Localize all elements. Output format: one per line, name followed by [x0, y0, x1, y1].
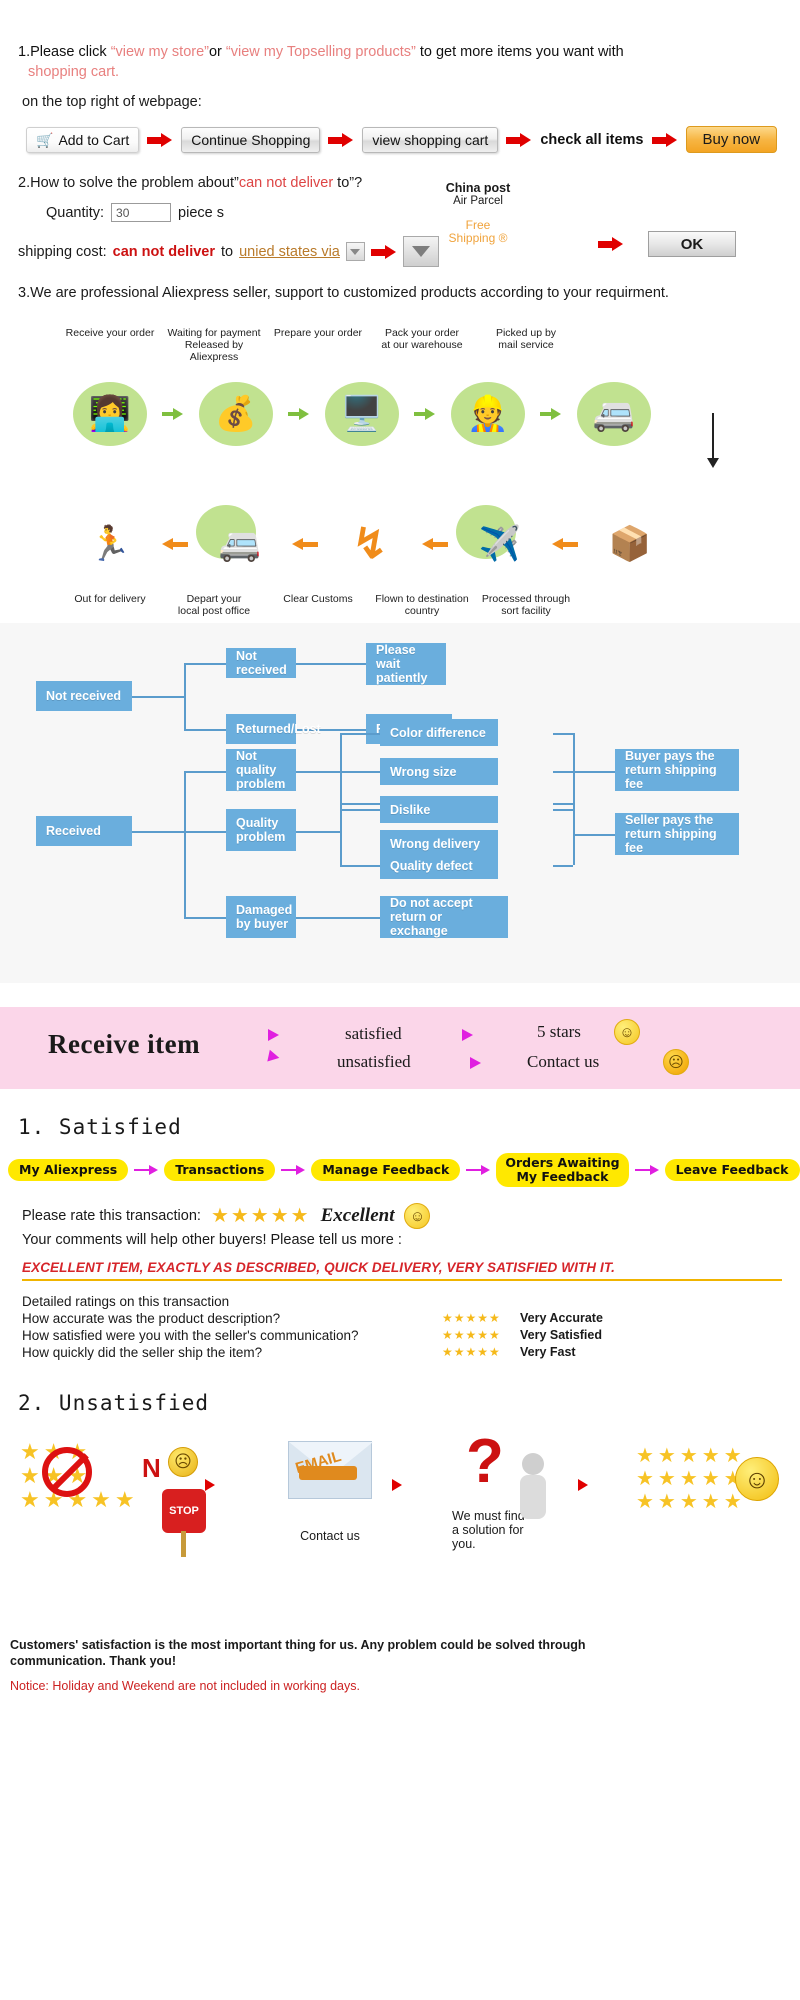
flow-box-color-difference: Color difference	[380, 719, 498, 746]
arrow-right-icon	[267, 1050, 320, 1073]
footer-notice: Notice: Holiday and Weekend are not incl…	[10, 1679, 800, 1693]
arrow-right-icon	[414, 408, 436, 420]
process-top-labels: Receive your order Waiting for payment R…	[0, 327, 800, 363]
add-to-cart-button[interactable]: 🛒 Add to Cart	[26, 127, 139, 153]
satisfied-label: satisfied	[345, 1024, 402, 1044]
flow-box-seller-pays: Seller pays the return shipping fee	[615, 813, 739, 855]
section-1-tail: to get more items you want with	[416, 44, 624, 60]
arrow-left-icon	[162, 538, 188, 551]
solution-icon-group: ? We must find a solution for you.	[452, 1431, 572, 1551]
arrow-right-icon	[162, 408, 184, 420]
air-parcel-label: Air Parcel	[418, 195, 538, 207]
free-shipping-label: Free Shipping ®	[418, 219, 538, 245]
contact-us-caption: Contact us	[275, 1529, 385, 1543]
detail-question: How accurate was the product description…	[22, 1310, 442, 1327]
arrow-right-icon	[635, 1165, 659, 1176]
flow-box-not-received-root: Not received	[36, 681, 132, 711]
flow-box-not-received: Not received	[226, 648, 296, 678]
arrow-right-icon	[205, 1479, 265, 1491]
quantity-input[interactable]: 30	[111, 203, 171, 222]
detail-question: How satisfied were you with the seller's…	[22, 1327, 442, 1344]
receive-order-icon: 👩‍💻	[58, 371, 162, 457]
checkout-button-flow: 🛒 Add to Cart Continue Shopping view sho…	[18, 126, 800, 153]
rating-stars[interactable]: ★★★★★	[211, 1206, 311, 1226]
cart-icon: 🛒	[36, 133, 53, 147]
section-2-heading-a: 2.How to solve the problem about”	[18, 175, 239, 191]
process-label: Picked up by mail service	[474, 327, 578, 363]
detail-question: How quickly did the seller ship the item…	[22, 1344, 442, 1361]
step-leave-feedback[interactable]: Leave Feedback	[665, 1159, 800, 1181]
arrow-right-icon	[328, 133, 354, 147]
detail-stars[interactable]: ★★★★★	[442, 1310, 520, 1327]
process-label: Prepare your order	[266, 327, 370, 363]
five-star-group: ★★★★★ ★★★★★ ★★★★★	[636, 1443, 746, 1514]
top-right-hint: on the top right of webpage:	[18, 94, 800, 110]
divider	[22, 1279, 782, 1281]
comments-label: Your comments will help other buyers! Pl…	[22, 1232, 800, 1248]
shipping-cannot-deliver: can not deliver	[113, 244, 215, 260]
footer-note: Customers' satisfaction is the most impo…	[10, 1637, 650, 1669]
section-3-text: 3.We are professional Aliexpress seller,…	[0, 285, 800, 301]
view-my-store-link[interactable]: “view my store”	[111, 44, 209, 60]
process-label: Processed through sort facility	[474, 593, 578, 617]
destination-link[interactable]: unied states via	[239, 244, 340, 260]
unsatisfied-flow: ★★★ ★★★ ★★★★★ N ☹ STOP EMAIL Contact us …	[0, 1421, 800, 1631]
picked-up-icon: 🚐	[562, 371, 666, 457]
arrow-right-icon	[540, 408, 562, 420]
ok-button[interactable]: OK	[648, 231, 736, 257]
process-label: Depart your local post office	[162, 593, 266, 617]
prepare-order-icon: 🖥️	[310, 371, 414, 457]
happy-face-icon: ☺	[404, 1203, 430, 1229]
cannot-deliver-phrase: can not deliver	[239, 175, 333, 191]
section-1-lead: Please click	[30, 44, 111, 60]
arrow-right-icon	[506, 133, 532, 147]
section-1-number: 1.	[18, 44, 30, 60]
depart-post-office-icon: 🚐	[188, 501, 292, 587]
process-label: Receive your order	[58, 327, 162, 363]
process-bottom-icons: 🏃 🚐 ↯ ✈️ 📦	[0, 501, 800, 587]
step-my-aliexpress[interactable]: My Aliexpress	[8, 1159, 128, 1181]
shopping-cart-text: shopping cart.	[18, 64, 800, 80]
check-all-items-text: check all items	[540, 132, 643, 148]
arrow-right-icon	[652, 133, 678, 147]
stop-sign-icon: STOP	[162, 1489, 206, 1533]
process-label: Clear Customs	[266, 593, 370, 617]
piece-label: piece s	[178, 205, 224, 221]
section-1: 1.Please click “view my store”or “view m…	[0, 0, 800, 153]
detail-stars[interactable]: ★★★★★	[442, 1344, 520, 1361]
ok-label: OK	[681, 236, 704, 253]
feedback-text[interactable]: EXCELLENT ITEM, EXACTLY AS DESCRIBED, QU…	[22, 1260, 800, 1275]
happy-face-icon: ☺	[614, 1019, 640, 1045]
buy-now-button[interactable]: Buy now	[686, 126, 778, 153]
process-top-icons: 👩‍💻 💰 🖥️ 👷 🚐	[0, 371, 800, 457]
flow-box-dislike: Dislike	[380, 796, 498, 823]
process-label: Flown to destination country	[370, 593, 474, 617]
section-1-mid: or	[209, 44, 226, 60]
detail-label: Very Satisfied	[520, 1327, 602, 1344]
flow-box-received-root: Received	[36, 816, 132, 846]
flow-box-quality-defect: Quality defect	[380, 852, 498, 879]
flow-box-no-return: Do not accept return or exchange	[380, 896, 508, 938]
detail-stars[interactable]: ★★★★★	[442, 1327, 520, 1344]
waiting-payment-icon: 💰	[184, 371, 288, 457]
process-label: Out for delivery	[58, 593, 162, 617]
flown-destination-icon: ✈️	[448, 501, 552, 587]
excellent-label: Excellent	[321, 1205, 395, 1227]
person-body	[520, 1475, 546, 1519]
arrow-right-icon	[392, 1479, 450, 1491]
arrow-right-icon	[134, 1165, 158, 1176]
solution-caption: We must find a solution for you.	[452, 1509, 572, 1551]
view-shopping-cart-button[interactable]: view shopping cart	[362, 127, 498, 153]
receive-item-title: Receive item	[48, 1029, 200, 1060]
crying-face-icon: ☹	[168, 1447, 198, 1477]
free-line-2: Shipping	[449, 231, 496, 245]
detail-title: Detailed ratings on this transaction	[22, 1293, 800, 1310]
arrow-right-icon	[578, 1479, 628, 1491]
continue-shopping-label: Continue Shopping	[191, 132, 310, 148]
china-post-block: China post Air Parcel Free Shipping ®	[418, 181, 538, 245]
buy-now-label: Buy now	[703, 131, 761, 148]
chevron-down-icon	[350, 249, 360, 255]
flow-box-wrong-size: Wrong size	[380, 758, 498, 785]
stop-sign-pole	[181, 1531, 186, 1557]
detail-row: How satisfied were you with the seller's…	[22, 1327, 800, 1344]
return-policy-flowchart: Not received Not received Returned/Lost …	[0, 623, 800, 983]
arrow-right-icon	[147, 133, 173, 147]
detailed-ratings: Detailed ratings on this transaction How…	[22, 1293, 800, 1361]
flow-box-buyer-pays: Buyer pays the return shipping fee	[615, 749, 739, 791]
continue-shopping-button[interactable]: Continue Shopping	[181, 127, 320, 153]
arrow-left-icon	[292, 538, 318, 551]
out-for-delivery-icon: 🏃	[58, 501, 162, 587]
feedback-steps: My Aliexpress Transactions Manage Feedba…	[8, 1153, 800, 1187]
detail-row: How accurate was the product description…	[22, 1310, 800, 1327]
china-post-title: China post	[418, 181, 538, 195]
order-process-flow: Receive your order Waiting for payment R…	[0, 327, 800, 617]
view-cart-label: view shopping cart	[372, 132, 488, 148]
arrow-right-icon	[598, 237, 624, 251]
flow-box-please-wait: Please wait patiently	[366, 643, 446, 685]
section-1-line-1: 1.Please click “view my store”or “view m…	[18, 42, 800, 62]
sad-face-icon: ☹	[663, 1049, 689, 1075]
person-head	[522, 1453, 544, 1475]
step-transactions[interactable]: Transactions	[164, 1159, 275, 1181]
flow-box-damaged-by-buyer: Damaged by buyer	[226, 896, 296, 938]
step-manage-feedback[interactable]: Manage Feedback	[311, 1159, 460, 1181]
quantity-label: Quantity:	[46, 205, 104, 221]
question-mark-icon: ?	[452, 1431, 572, 1493]
no-letter: N	[142, 1453, 161, 1484]
arrow-right-icon	[371, 245, 397, 259]
receive-item-banner: Receive item satisfied unsatisfied 5 sta…	[0, 1007, 800, 1089]
shipping-to: to	[221, 244, 233, 260]
process-label: Pack your order at our warehouse	[370, 327, 474, 363]
process-bottom-labels: Out for delivery Depart your local post …	[0, 593, 800, 617]
rate-transaction-row: Please rate this transaction: ★★★★★ Exce…	[22, 1203, 800, 1229]
section-2: 2.How to solve the problem about”can not…	[0, 175, 800, 275]
flow-box-returned-lost: Returned/Lost	[226, 714, 296, 744]
five-stars-label: 5 stars	[537, 1022, 581, 1042]
arrow-left-icon	[422, 538, 448, 551]
arrow-right-icon	[288, 408, 310, 420]
pack-order-icon: 👷	[436, 371, 540, 457]
detail-label: Very Accurate	[520, 1310, 603, 1327]
flow-box-quality-problem: Quality problem	[226, 809, 296, 851]
registered-mark: ®	[499, 231, 508, 245]
arrow-right-icon	[281, 1165, 305, 1176]
arrow-right-icon	[470, 1057, 518, 1069]
arrow-down-icon	[712, 413, 714, 459]
unsatisfied-label: unsatisfied	[337, 1052, 411, 1072]
contact-us-label: Contact us	[527, 1052, 599, 1072]
sort-facility-icon: 📦	[578, 501, 682, 587]
happy-face-icon: ☺	[735, 1457, 779, 1501]
email-icon-group: EMAIL Contact us	[275, 1441, 385, 1543]
clear-customs-icon: ↯	[318, 501, 422, 587]
promo-page: 1.Please click “view my store”or “view m…	[0, 0, 800, 2000]
view-topselling-link[interactable]: “view my Topselling products”	[226, 44, 416, 60]
country-dropdown[interactable]	[346, 242, 365, 261]
arrow-left-icon	[552, 538, 578, 551]
shipping-cost-label: shipping cost:	[18, 244, 107, 260]
chevron-down-icon	[412, 246, 430, 257]
step-orders-awaiting[interactable]: Orders Awaiting My Feedback	[496, 1153, 628, 1187]
detail-label: Very Fast	[520, 1344, 576, 1361]
process-label: Waiting for payment Released by Aliexpre…	[162, 327, 266, 363]
free-line-1: Free	[466, 218, 491, 232]
flow-box-not-quality-problem: Not quality problem	[226, 749, 296, 791]
arrow-right-icon	[268, 1029, 320, 1041]
arrow-right-icon	[466, 1165, 490, 1176]
section-2-heading-b: to”?	[333, 175, 362, 191]
satisfied-heading: 1. Satisfied	[18, 1115, 800, 1139]
quantity-row: Quantity: 30 piece s	[18, 203, 800, 222]
arrow-right-icon	[462, 1029, 514, 1041]
unsatisfied-heading: 2. Unsatisfied	[18, 1391, 800, 1415]
add-to-cart-label: Add to Cart	[58, 132, 129, 148]
rate-label: Please rate this transaction:	[22, 1208, 201, 1224]
detail-row: How quickly did the seller ship the item…	[22, 1344, 800, 1361]
section-2-heading: 2.How to solve the problem about”can not…	[18, 175, 800, 191]
